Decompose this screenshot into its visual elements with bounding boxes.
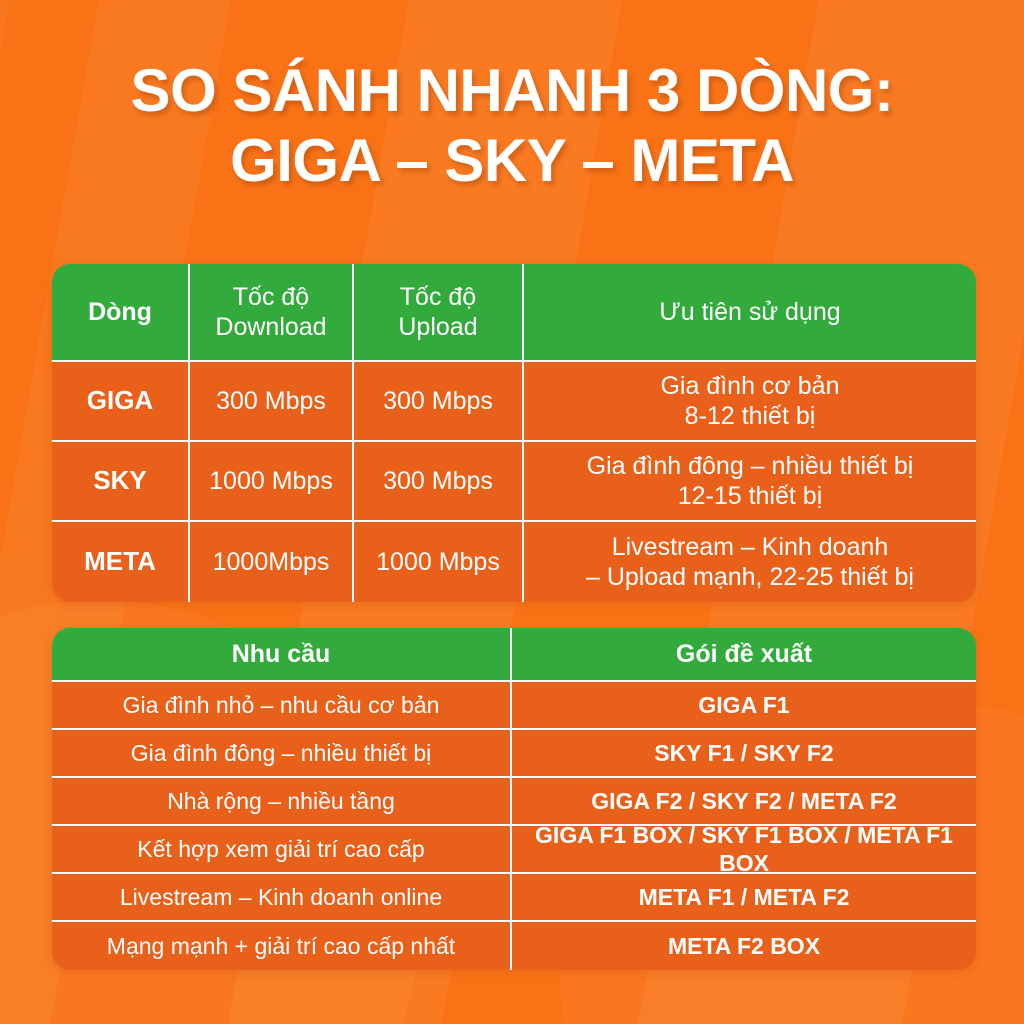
cell-package: GIGA F2 / SKY F2 / META F2 — [512, 778, 976, 826]
cell-need: Mạng mạnh + giải trí cao cấp nhất — [52, 922, 512, 970]
cell-need: Nhà rộng – nhiều tầng — [52, 778, 512, 826]
cell-priority-usage: Livestream – Kinh doanh – Upload mạnh, 2… — [524, 522, 976, 602]
header-cell-line: Dòng — [52, 264, 190, 362]
cell-package: META F1 / META F2 — [512, 874, 976, 922]
page-title-line-1: SO SÁNH NHANH 3 DÒNG: — [0, 56, 1024, 126]
header-cell-priority-usage: Ưu tiên sử dụng — [524, 264, 976, 362]
recommendation-table: Nhu cầu Gói đề xuất Gia đình nhỏ – nhu c… — [52, 628, 976, 970]
cell-need: Gia đình đông – nhiều thiết bị — [52, 730, 512, 778]
cell-package: GIGA F1 — [512, 682, 976, 730]
speed-comparison-table: Dòng Tốc độ Download Tốc độ Upload Ưu ti… — [52, 264, 976, 602]
usage-line-2: – Upload mạnh, 22-25 thiết bị — [586, 562, 914, 593]
cell-package: SKY F1 / SKY F2 — [512, 730, 976, 778]
cell-download-speed: 300 Mbps — [190, 362, 354, 442]
usage-line-1: Gia đình cơ bản — [660, 371, 839, 402]
cell-priority-usage: Gia đình đông – nhiều thiết bị 12-15 thi… — [524, 442, 976, 522]
table-row: Mạng mạnh + giải trí cao cấp nhất META F… — [52, 922, 976, 970]
header-download-line-2: Download — [215, 312, 326, 343]
cell-need: Gia đình nhỏ – nhu cầu cơ bản — [52, 682, 512, 730]
cell-upload-speed: 300 Mbps — [354, 362, 524, 442]
header-cell-package: Gói đề xuất — [512, 628, 976, 682]
cell-package: GIGA F1 BOX / SKY F1 BOX / META F1 BOX — [512, 826, 976, 874]
table-row: Gia đình đông – nhiều thiết bị SKY F1 / … — [52, 730, 976, 778]
cell-need: Kết hợp xem giải trí cao cấp — [52, 826, 512, 874]
cell-priority-usage: Gia đình cơ bản 8-12 thiết bị — [524, 362, 976, 442]
cell-package: META F2 BOX — [512, 922, 976, 970]
cell-upload-speed: 300 Mbps — [354, 442, 524, 522]
table-header-row: Dòng Tốc độ Download Tốc độ Upload Ưu ti… — [52, 264, 976, 362]
cell-need: Livestream – Kinh doanh online — [52, 874, 512, 922]
cell-line-name: META — [52, 522, 190, 602]
cell-upload-speed: 1000 Mbps — [354, 522, 524, 602]
table-row: SKY 1000 Mbps 300 Mbps Gia đình đông – n… — [52, 442, 976, 522]
header-upload-line-1: Tốc độ — [400, 282, 476, 313]
header-cell-download-speed: Tốc độ Download — [190, 264, 354, 362]
cell-line-name: SKY — [52, 442, 190, 522]
cell-download-speed: 1000 Mbps — [190, 442, 354, 522]
cell-line-name: GIGA — [52, 362, 190, 442]
table-row: Gia đình nhỏ – nhu cầu cơ bản GIGA F1 — [52, 682, 976, 730]
usage-line-1: Gia đình đông – nhiều thiết bị — [587, 451, 914, 482]
table-row: GIGA 300 Mbps 300 Mbps Gia đình cơ bản 8… — [52, 362, 976, 442]
header-upload-line-2: Upload — [398, 312, 477, 343]
table-row: Kết hợp xem giải trí cao cấp GIGA F1 BOX… — [52, 826, 976, 874]
table-row: Nhà rộng – nhiều tầng GIGA F2 / SKY F2 /… — [52, 778, 976, 826]
table-row: Livestream – Kinh doanh online META F1 /… — [52, 874, 976, 922]
table-header-row: Nhu cầu Gói đề xuất — [52, 628, 976, 682]
page-title-line-2: GIGA – SKY – META — [0, 126, 1024, 196]
usage-line-2: 12-15 thiết bị — [678, 481, 823, 512]
cell-download-speed: 1000Mbps — [190, 522, 354, 602]
header-cell-upload-speed: Tốc độ Upload — [354, 264, 524, 362]
table-row: META 1000Mbps 1000 Mbps Livestream – Kin… — [52, 522, 976, 602]
usage-line-2: 8-12 thiết bị — [685, 401, 816, 432]
header-download-line-1: Tốc độ — [233, 282, 309, 313]
usage-line-1: Livestream – Kinh doanh — [612, 532, 889, 563]
page-title: SO SÁNH NHANH 3 DÒNG: GIGA – SKY – META — [0, 56, 1024, 196]
header-cell-need: Nhu cầu — [52, 628, 512, 682]
